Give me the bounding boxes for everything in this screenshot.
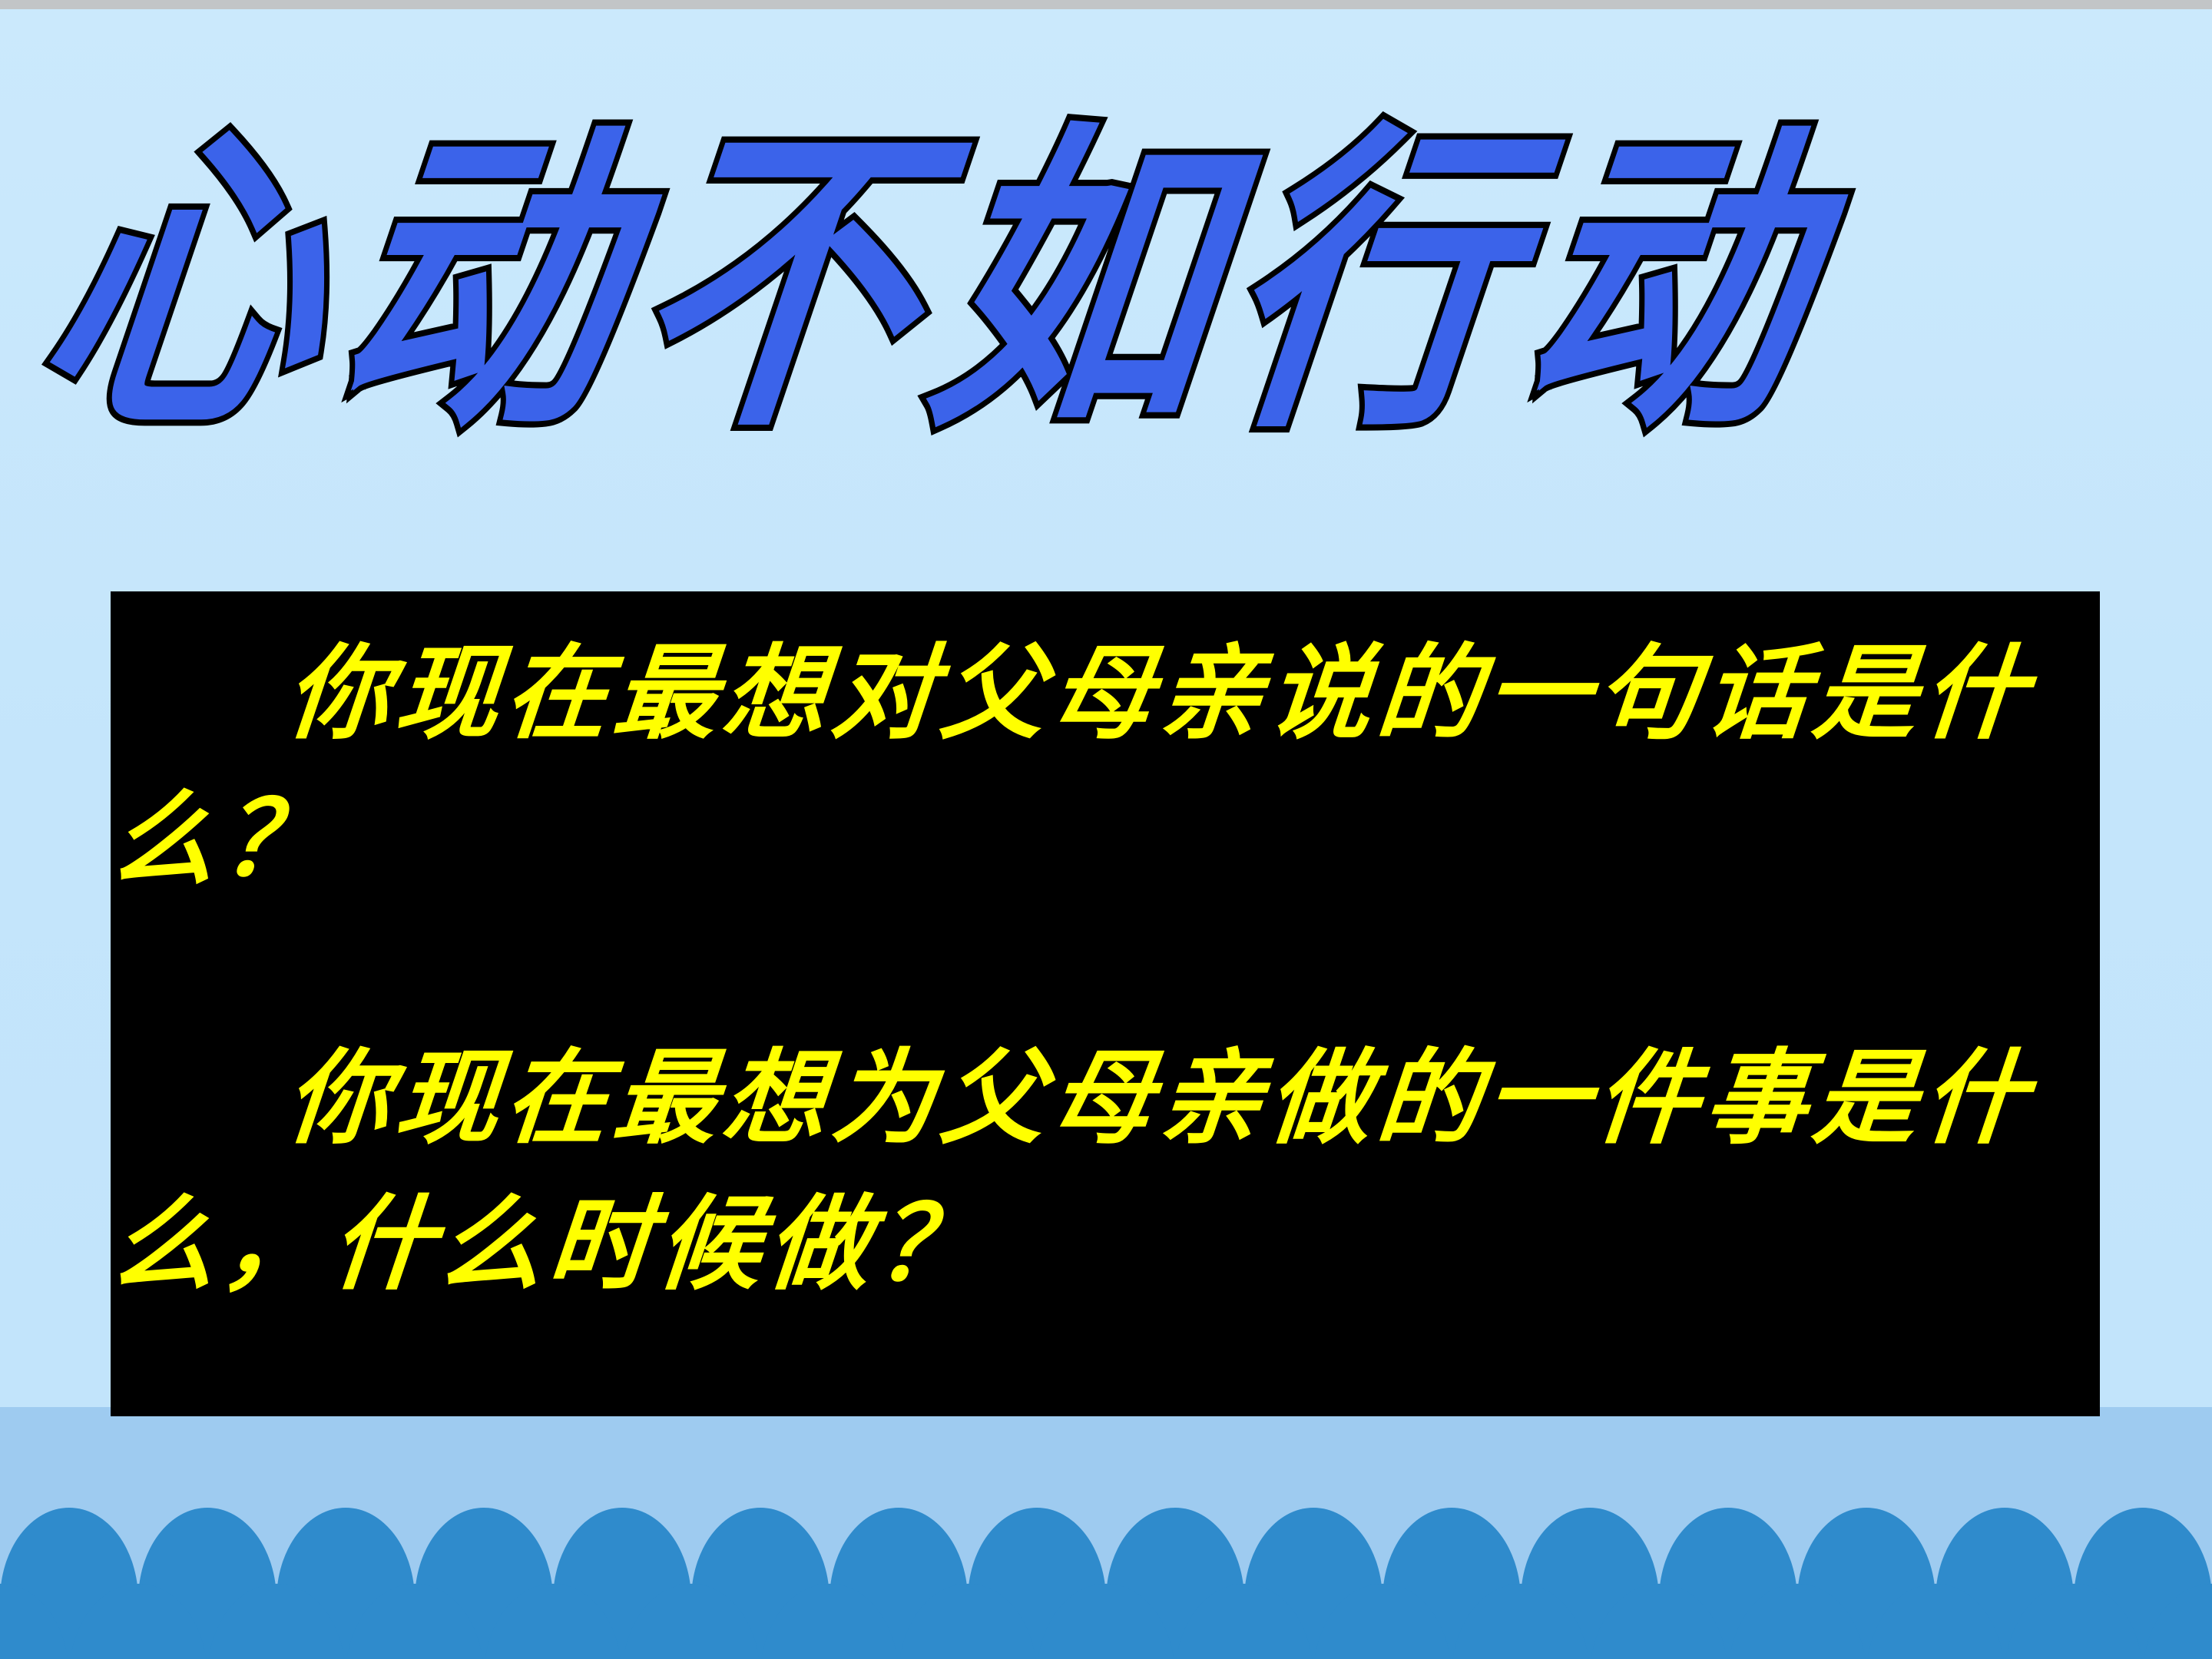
presentation-slide: 心动不如行动 你现在最想对父母亲说的一句话是什么？ 你现在最想为父母亲做的一件事… [0, 0, 2212, 1659]
scallop-shape [1037, 1584, 1175, 1659]
scallop-shape [2005, 1584, 2143, 1659]
question-line-1: 你现在最想对父母亲说的一句话是什么？ [107, 621, 2069, 913]
scallop-shape [622, 1584, 760, 1659]
scallop-shape [1590, 1584, 1728, 1659]
scallop-shape [1175, 1584, 1313, 1659]
top-border-strip [0, 0, 2212, 9]
scallop-shape [760, 1584, 899, 1659]
scallop-shape [69, 1584, 207, 1659]
question-content-box: 你现在最想对父母亲说的一句话是什么？ 你现在最想为父母亲做的一件事是什么，什么时… [111, 591, 2100, 1416]
scallop-shape [1452, 1584, 1590, 1659]
scallop-shape [0, 1584, 69, 1659]
slide-title-text: 心动不如行动 [26, 124, 1844, 445]
scallop-shape [484, 1584, 622, 1659]
scallop-shape [1866, 1584, 2005, 1659]
question-line-2: 你现在最想为父母亲做的一件事是什么，什么时候做？ [107, 1025, 2069, 1318]
scallop-shape [207, 1584, 346, 1659]
scallop-decoration-row-front [0, 1584, 2212, 1659]
scallop-shape [2143, 1584, 2212, 1659]
scallop-shape [1728, 1584, 1866, 1659]
scallop-shape [899, 1584, 1037, 1659]
slide-title: 心动不如行动 [46, 54, 2212, 515]
scallop-shape [346, 1584, 484, 1659]
scallop-shape [1313, 1584, 1452, 1659]
